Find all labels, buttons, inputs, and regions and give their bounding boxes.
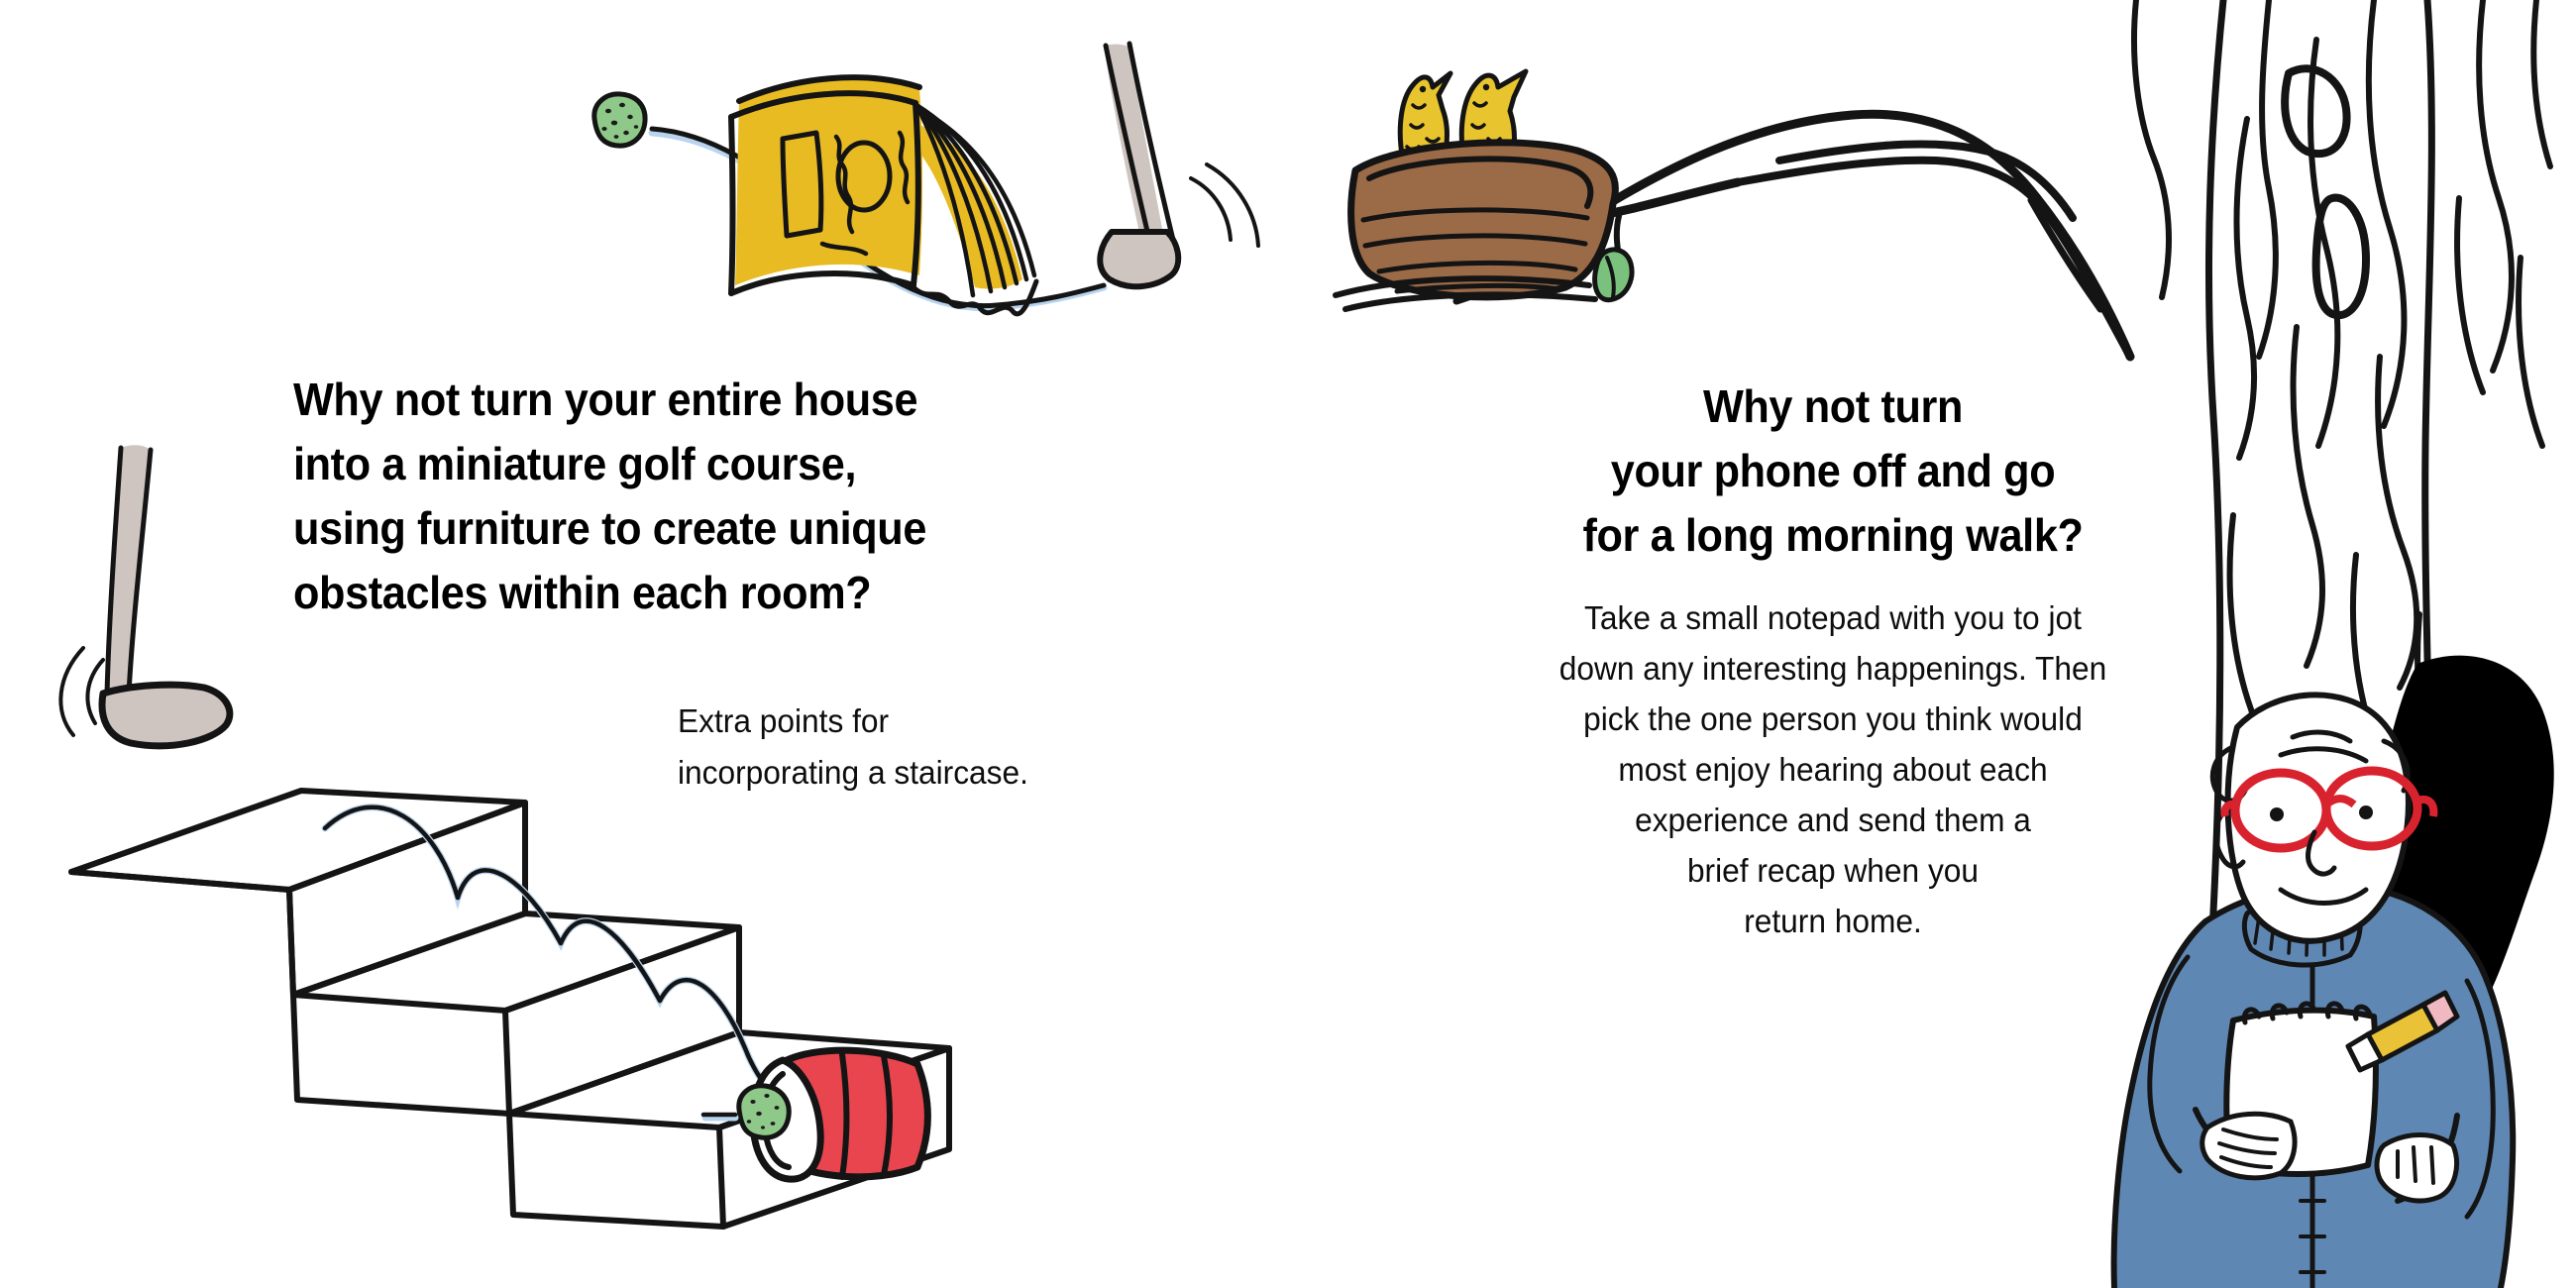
golf-club-top-icon xyxy=(1088,42,1296,299)
right-page-body: Take a small notepad with you to jot dow… xyxy=(1500,592,2166,946)
baby-bird-chicks xyxy=(1393,71,1526,220)
book-spread: Why not turn your entire house into a mi… xyxy=(0,0,2576,1288)
notepad-icon xyxy=(2226,1004,2376,1174)
left-page-subtext: Extra points for incorporating a stairca… xyxy=(678,696,1172,799)
red-cup-icon xyxy=(733,1030,961,1199)
tree-trunk-illustration xyxy=(2130,0,2576,1288)
staircase-illustration xyxy=(10,684,763,1278)
red-glasses-icon xyxy=(2225,771,2434,848)
birds-nest-icon xyxy=(1340,44,1657,311)
blue-ball-trail-top xyxy=(648,119,1262,317)
right-page-heading: Why not turn your phone off and go for a… xyxy=(1545,375,2122,568)
left-page-heading: Why not turn your entire house into a mi… xyxy=(293,368,1038,625)
blue-eggshell xyxy=(1517,157,1565,208)
black-bird-silhouette-icon xyxy=(2299,654,2566,1149)
green-golf-ball-top-icon xyxy=(581,81,660,161)
pencil-icon xyxy=(2348,993,2457,1070)
yellow-book-icon xyxy=(725,46,1161,333)
tree-branch-illustration xyxy=(1338,20,2229,357)
